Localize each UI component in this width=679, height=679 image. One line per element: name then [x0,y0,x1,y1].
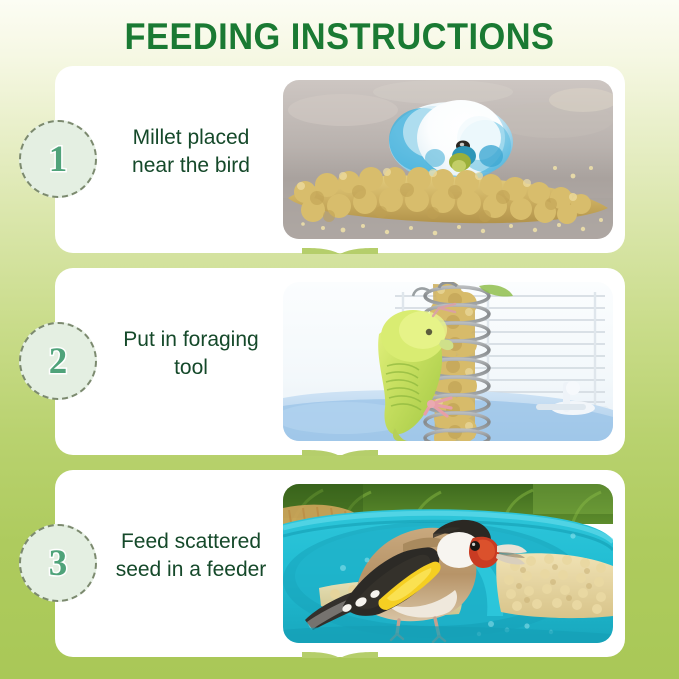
step-text-3-line1: Feed scattered [105,528,277,556]
step-text-1-line1: Millet placed [105,124,277,152]
step-badge-1: 1 [19,120,97,198]
step-number-1: 1 [49,141,68,178]
page-title: FEEDING INSTRUCTIONS [24,16,655,58]
step-text-2-line2: tool [105,354,277,382]
step-text-2-line1: Put in foraging [105,326,277,354]
foraging-tool-photo [283,282,613,441]
step-text-2: Put in foraging tool [105,326,277,382]
step-photo-1 [283,80,613,239]
step-text-1-line2: near the bird [105,152,277,180]
step-text-3: Feed scattered seed in a feeder [105,528,277,584]
goldfinch-feeder-photo [283,484,613,643]
step-text-1: Millet placed near the bird [105,124,277,180]
step-text-3-line2: seed in a feeder [105,556,277,584]
step-number-3: 3 [49,545,68,582]
feeding-instructions-page: FEEDING INSTRUCTIONS 1 Millet placed nea… [0,0,679,679]
step-photo-3 [283,484,613,643]
step-badge-2: 2 [19,322,97,400]
step-number-2: 2 [49,343,68,380]
step-photo-2 [283,282,613,441]
step-badge-3: 3 [19,524,97,602]
budgie-millet-photo [283,80,613,239]
